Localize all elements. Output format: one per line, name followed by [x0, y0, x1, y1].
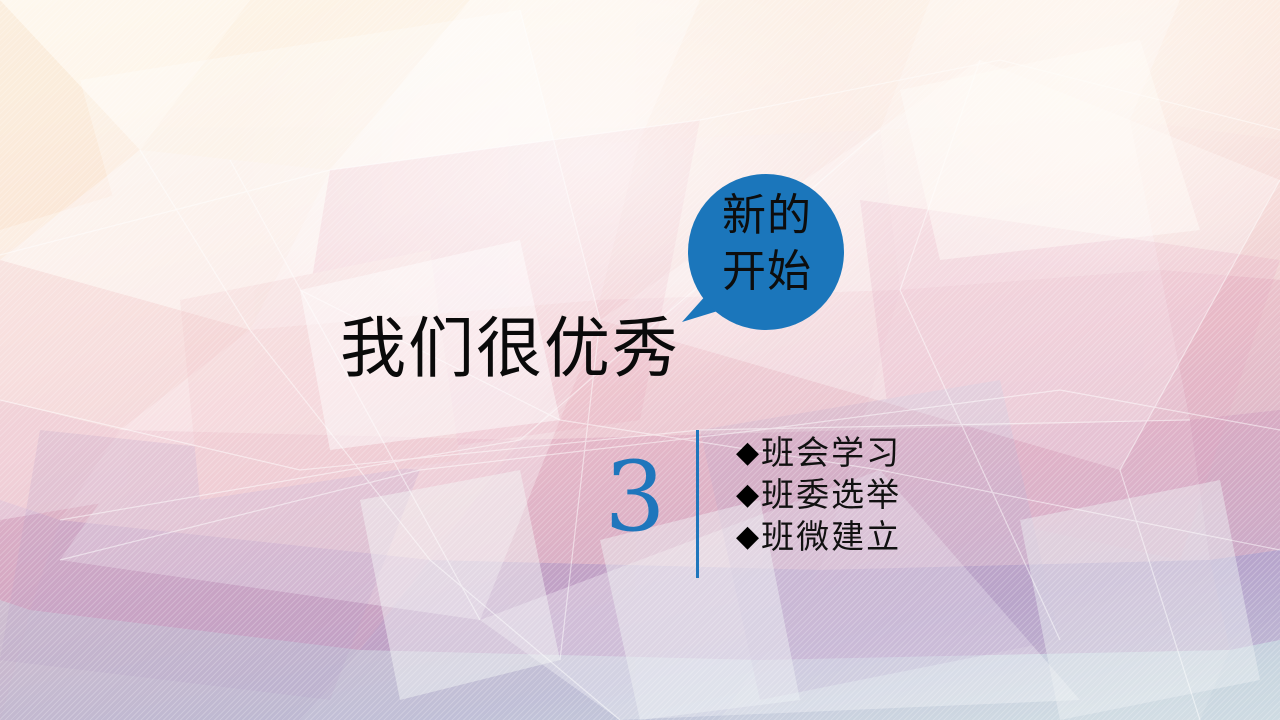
- speech-bubble-line-1: 新的: [688, 188, 846, 244]
- list-item: ◆ 班微建立: [736, 516, 996, 558]
- diamond-bullet-icon: ◆: [736, 432, 759, 474]
- list-item: ◆ 班委选举: [736, 474, 996, 516]
- vertical-divider: [696, 430, 699, 578]
- section-number: 3: [596, 442, 674, 552]
- list-item: ◆ 班会学习: [736, 432, 996, 474]
- presentation-slide: 新的 开始 我们很优秀 3 ◆ 班会学习 ◆ 班委选举 ◆ 班微建立: [0, 0, 1280, 720]
- section-content-row: 3 ◆ 班会学习 ◆ 班委选举 ◆ 班微建立: [596, 424, 996, 584]
- list-item-label: 班微建立: [761, 516, 901, 558]
- speech-bubble-line-2: 开始: [688, 244, 846, 300]
- list-item-label: 班委选举: [761, 474, 901, 516]
- bullet-list: ◆ 班会学习 ◆ 班委选举 ◆ 班微建立: [736, 432, 996, 558]
- diamond-bullet-icon: ◆: [736, 516, 759, 558]
- list-item-label: 班会学习: [761, 432, 901, 474]
- speech-bubble-badge: 新的 开始: [664, 172, 856, 344]
- diamond-bullet-icon: ◆: [736, 474, 759, 516]
- speech-bubble-text: 新的 开始: [688, 188, 846, 300]
- slide-title: 我们很优秀: [340, 309, 680, 389]
